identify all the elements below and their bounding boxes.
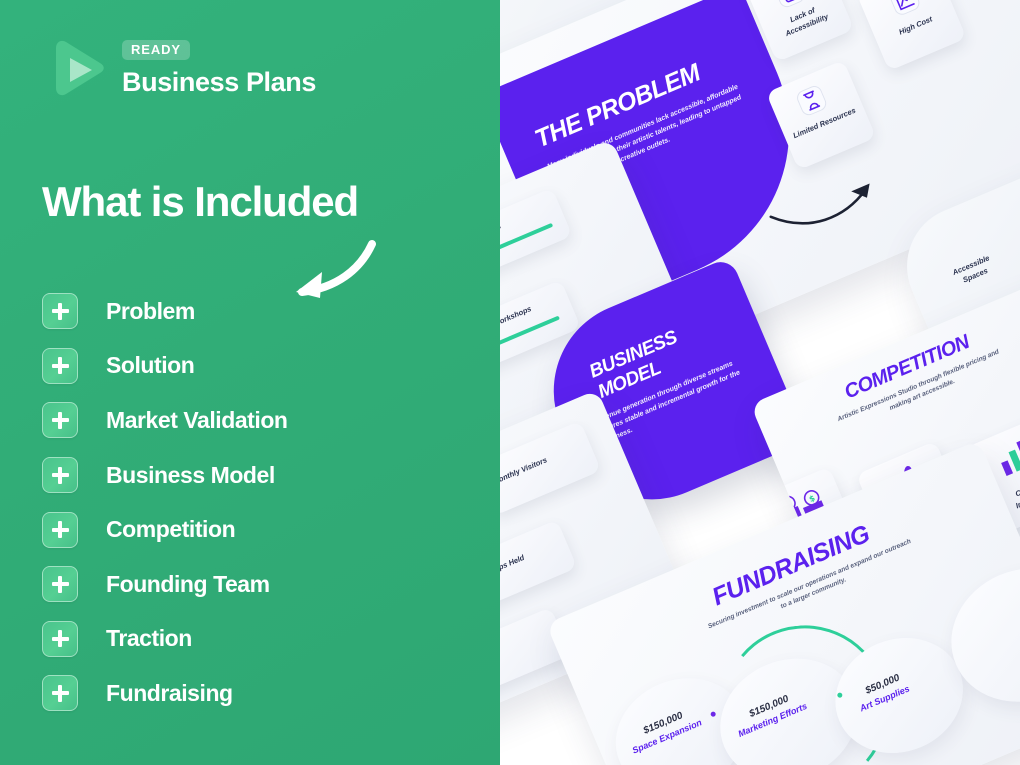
page-title: What is Included: [42, 180, 358, 224]
plus-icon[interactable]: [42, 512, 78, 548]
list-item[interactable]: Market Validation: [42, 393, 472, 448]
traction-item-label: Monthly Visitors: [500, 455, 549, 488]
plus-icon[interactable]: [42, 566, 78, 602]
brand-lockup: READY Business Plans: [44, 36, 344, 118]
plus-icon[interactable]: [42, 402, 78, 438]
list-item[interactable]: Competition: [42, 502, 472, 557]
list-item-label: Problem: [106, 298, 195, 325]
validation-meter: [500, 223, 553, 263]
list-item-label: Solution: [106, 352, 194, 379]
list-item[interactable]: Solution: [42, 339, 472, 394]
list-item-label: Competition: [106, 516, 235, 543]
list-item[interactable]: Business Model: [42, 448, 472, 503]
poster-canvas: READY Business Plans What is Included Pr…: [0, 0, 1020, 765]
solution-card-label: Accessible Spaces: [942, 249, 1006, 292]
slide-preview-panel: THE PROBLEM Many individuals and communi…: [500, 0, 1020, 765]
list-item-label: Traction: [106, 625, 192, 652]
play-triangle-icon: [44, 36, 108, 100]
list-item-label: Fundraising: [106, 680, 233, 707]
list-item-label: Founding Team: [106, 571, 270, 598]
list-item[interactable]: Fundraising: [42, 666, 472, 721]
ready-badge: READY: [122, 40, 190, 60]
svg-text:$: $: [808, 493, 817, 504]
svg-text:$: $: [784, 499, 793, 510]
traction-item[interactable]: Monthly Visitors: [500, 421, 601, 516]
problem-card-label: High Cost: [882, 8, 949, 45]
list-item-label: Market Validation: [106, 407, 288, 434]
traction-item-label: Workshops Held: [500, 553, 526, 586]
traction-item[interactable]: Workshops Held: [500, 520, 577, 613]
list-item[interactable]: Traction: [42, 612, 472, 667]
hourglass-icon: [795, 84, 829, 118]
list-item[interactable]: Problem: [42, 284, 472, 339]
brand-title: Business Plans: [122, 68, 316, 98]
plus-icon[interactable]: [42, 621, 78, 657]
plus-icon[interactable]: [42, 457, 78, 493]
problem-card[interactable]: High Cost: [856, 0, 966, 71]
validation-item[interactable]: Drop-in Fees: [500, 188, 572, 282]
plus-icon[interactable]: [42, 348, 78, 384]
list-item[interactable]: Founding Team: [42, 557, 472, 612]
plus-icon[interactable]: [42, 675, 78, 711]
lock-document-icon: [773, 0, 807, 10]
problem-card-label: Lack of Accessibility: [769, 0, 840, 44]
plus-icon[interactable]: [42, 293, 78, 329]
chart-icon: [991, 434, 1020, 486]
list-item-label: Business Model: [106, 462, 275, 489]
included-feature-list: Problem Solution Market Validation Busin…: [42, 284, 472, 721]
left-green-panel: READY Business Plans What is Included Pr…: [0, 0, 500, 765]
chart-down-icon: [888, 0, 922, 17]
